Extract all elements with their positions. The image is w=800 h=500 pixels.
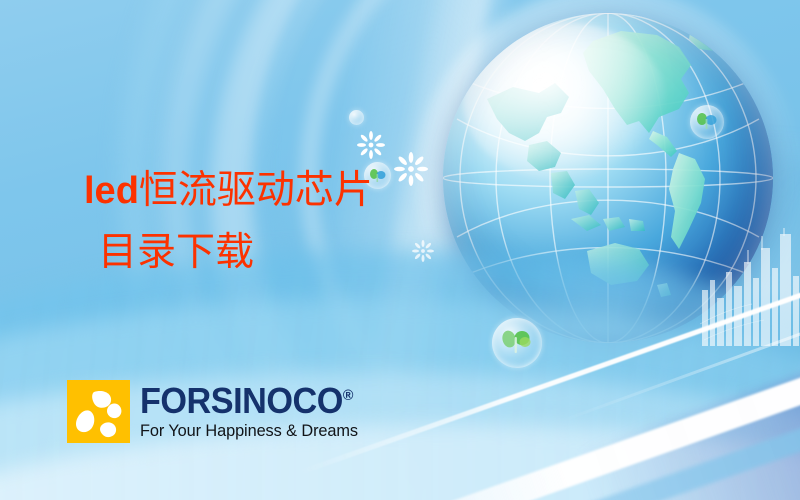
- brand-tagline: For Your Happiness & Dreams: [140, 421, 362, 441]
- globe-rim-shading: [443, 13, 773, 343]
- brand-name-text: FORSINOCO: [140, 380, 343, 421]
- headline-line-2: 目录下载: [84, 222, 464, 284]
- ribbon-blue: [356, 385, 800, 500]
- globe-sphere: [443, 13, 773, 343]
- brand-name: FORSINOCO®: [140, 383, 353, 419]
- headline-cjk: 恒流驱动芯片: [139, 169, 373, 212]
- headline-line-1: led恒流驱动芯片: [84, 169, 373, 212]
- bubble-small-top: [349, 110, 364, 125]
- registered-mark: ®: [343, 387, 353, 404]
- flower-sparkle-1: [357, 131, 385, 159]
- brand-text-lockup: FORSINOCO® For Your Happiness & Dreams: [140, 383, 364, 441]
- headline-latin: led: [84, 170, 139, 212]
- headline: led恒流驱动芯片 目录下载: [84, 160, 464, 284]
- four-petal-pinwheel-icon: [67, 380, 130, 443]
- poster-canvas: led恒流驱动芯片 目录下载 FORSINOCO® For Your Happi…: [0, 0, 800, 500]
- brand-logo: FORSINOCO® For Your Happiness & Dreams: [67, 380, 364, 443]
- world-globe-graphic: [443, 13, 773, 343]
